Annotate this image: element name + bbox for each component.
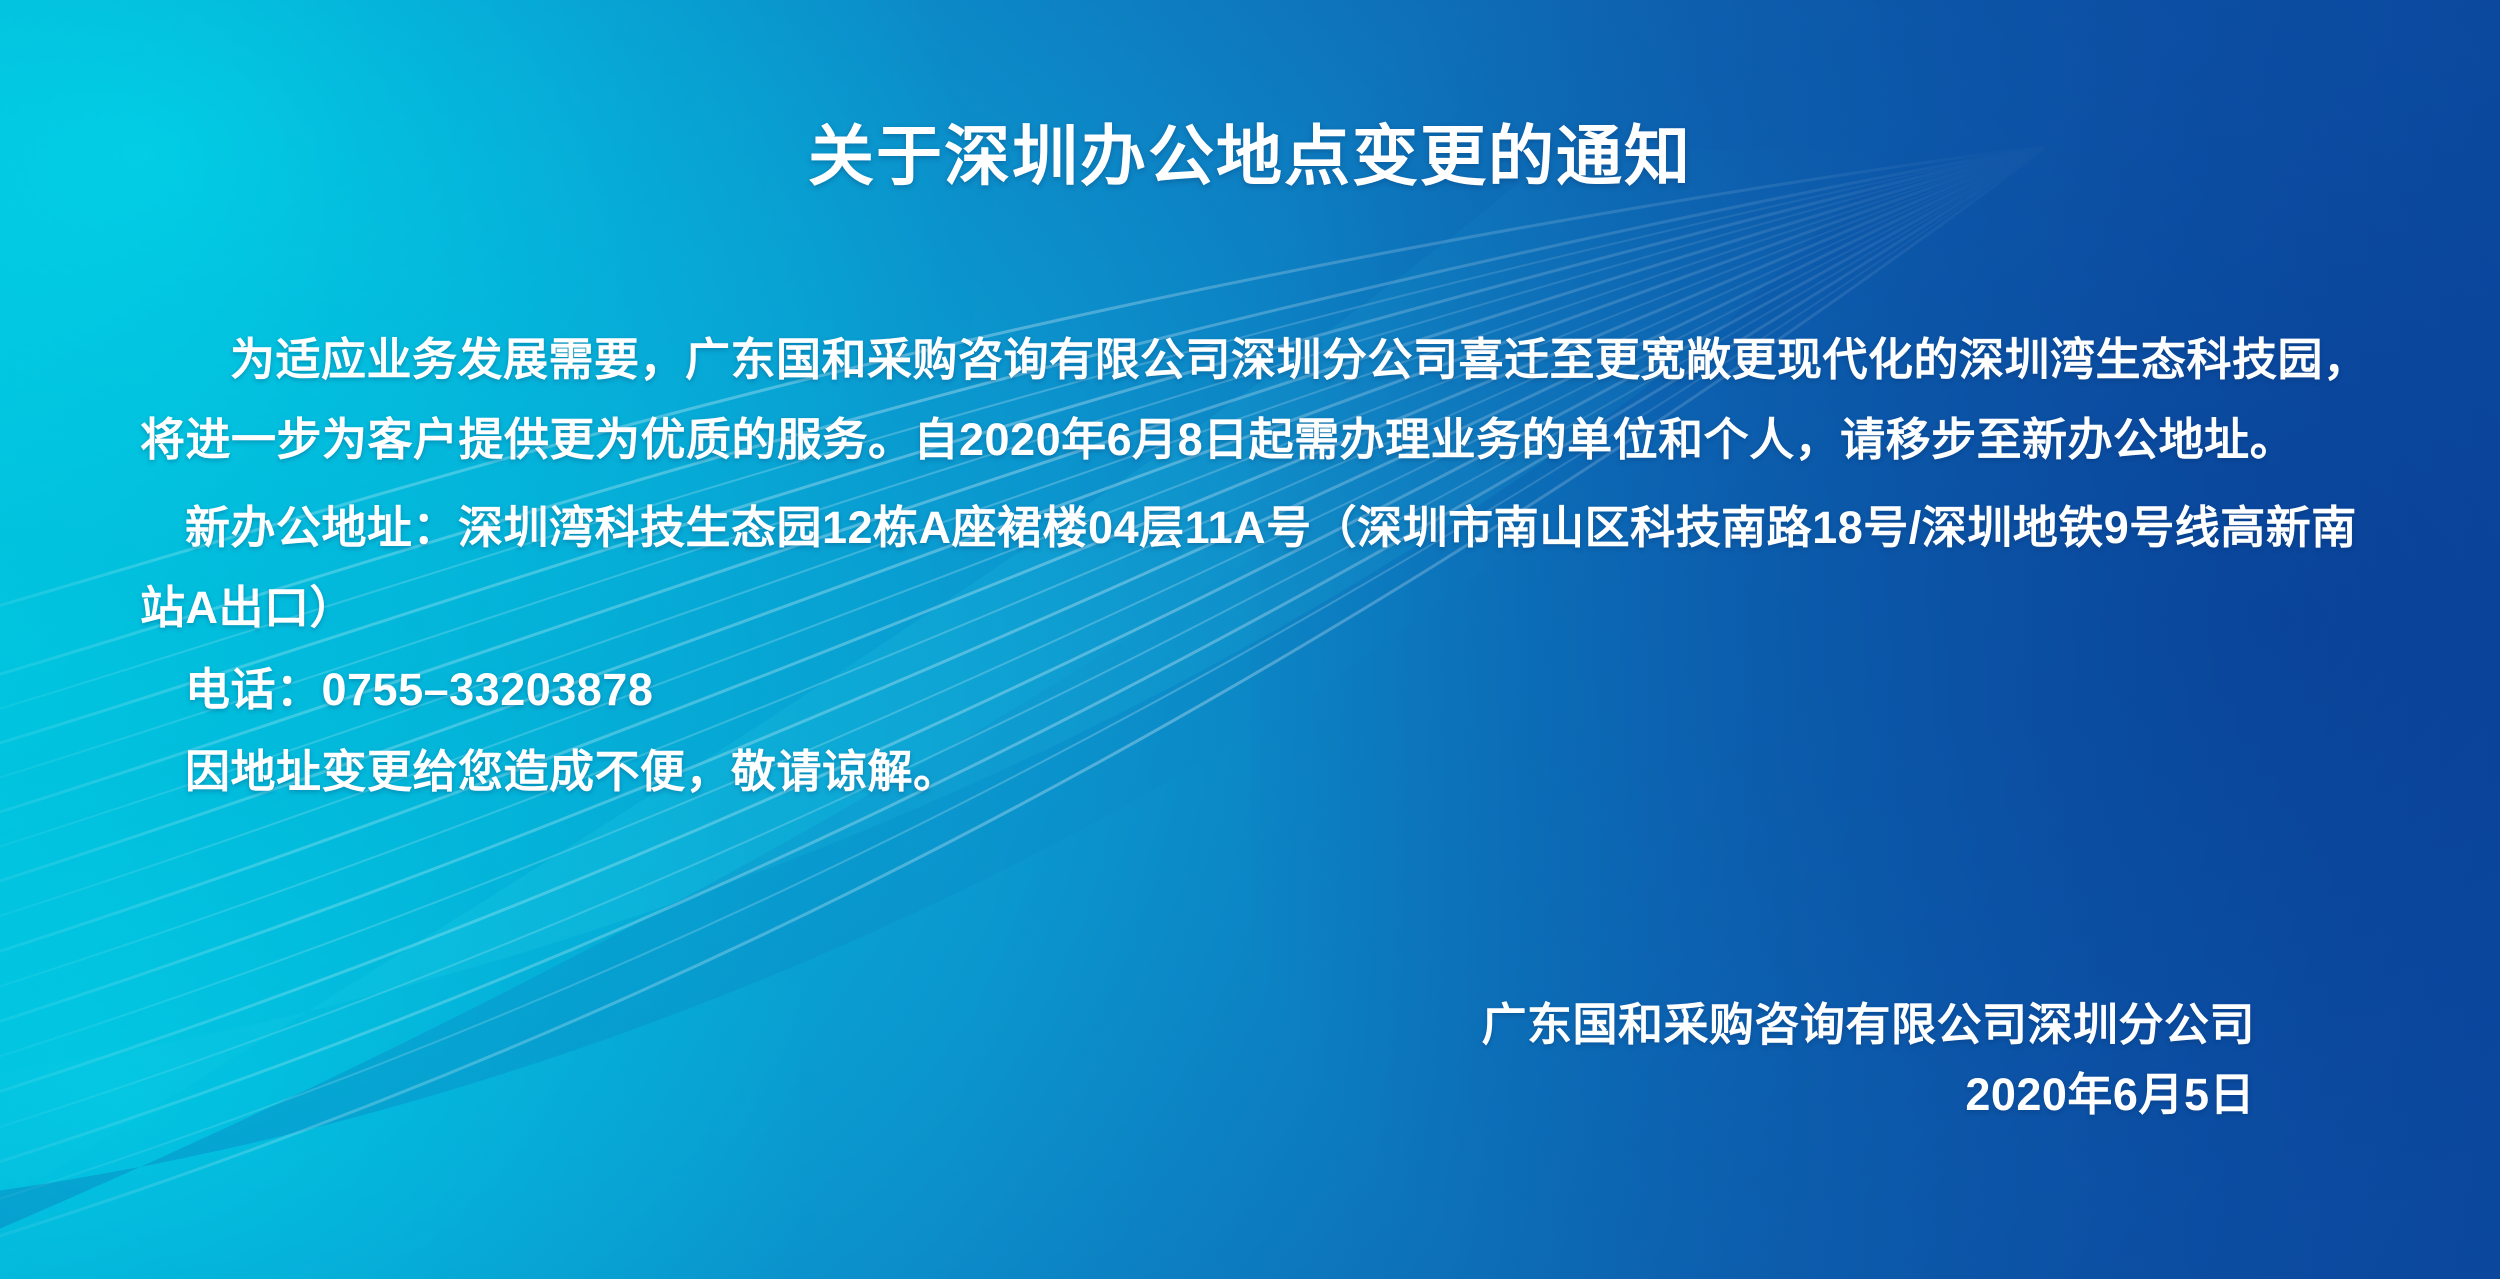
notice-poster: 关于深圳办公地点变更的通知 为适应业务发展需要，广东国和采购咨询有限公司深圳分公… — [0, 0, 2500, 1279]
paragraph-apology: 因地址变更给您造成不便，敬请谅解。 — [140, 732, 2370, 812]
signature-block: 广东国和采购咨询有限公司深圳分公司 2020年6月5日 — [1481, 990, 2255, 1130]
signature-date: 2020年6月5日 — [1481, 1060, 2255, 1130]
notice-body: 为适应业务发展需要，广东国和采购咨询有限公司深圳分公司喜迁至更宽敞更现代化的深圳… — [140, 320, 2370, 815]
notice-content: 关于深圳办公地点变更的通知 为适应业务发展需要，广东国和采购咨询有限公司深圳分公… — [0, 0, 2500, 1279]
paragraph-intro: 为适应业务发展需要，广东国和采购咨询有限公司深圳分公司喜迁至更宽敞更现代化的深圳… — [140, 320, 2370, 480]
page-title: 关于深圳办公地点变更的通知 — [0, 120, 2500, 193]
paragraph-new-address: 新办公地址：深圳湾科技生态园12栋A座裙楼04层11A号（深圳市南山区科技南路1… — [140, 488, 2370, 648]
paragraph-phone: 电话：0755–33203878 — [140, 650, 2370, 730]
signature-company: 广东国和采购咨询有限公司深圳分公司 — [1481, 990, 2255, 1060]
